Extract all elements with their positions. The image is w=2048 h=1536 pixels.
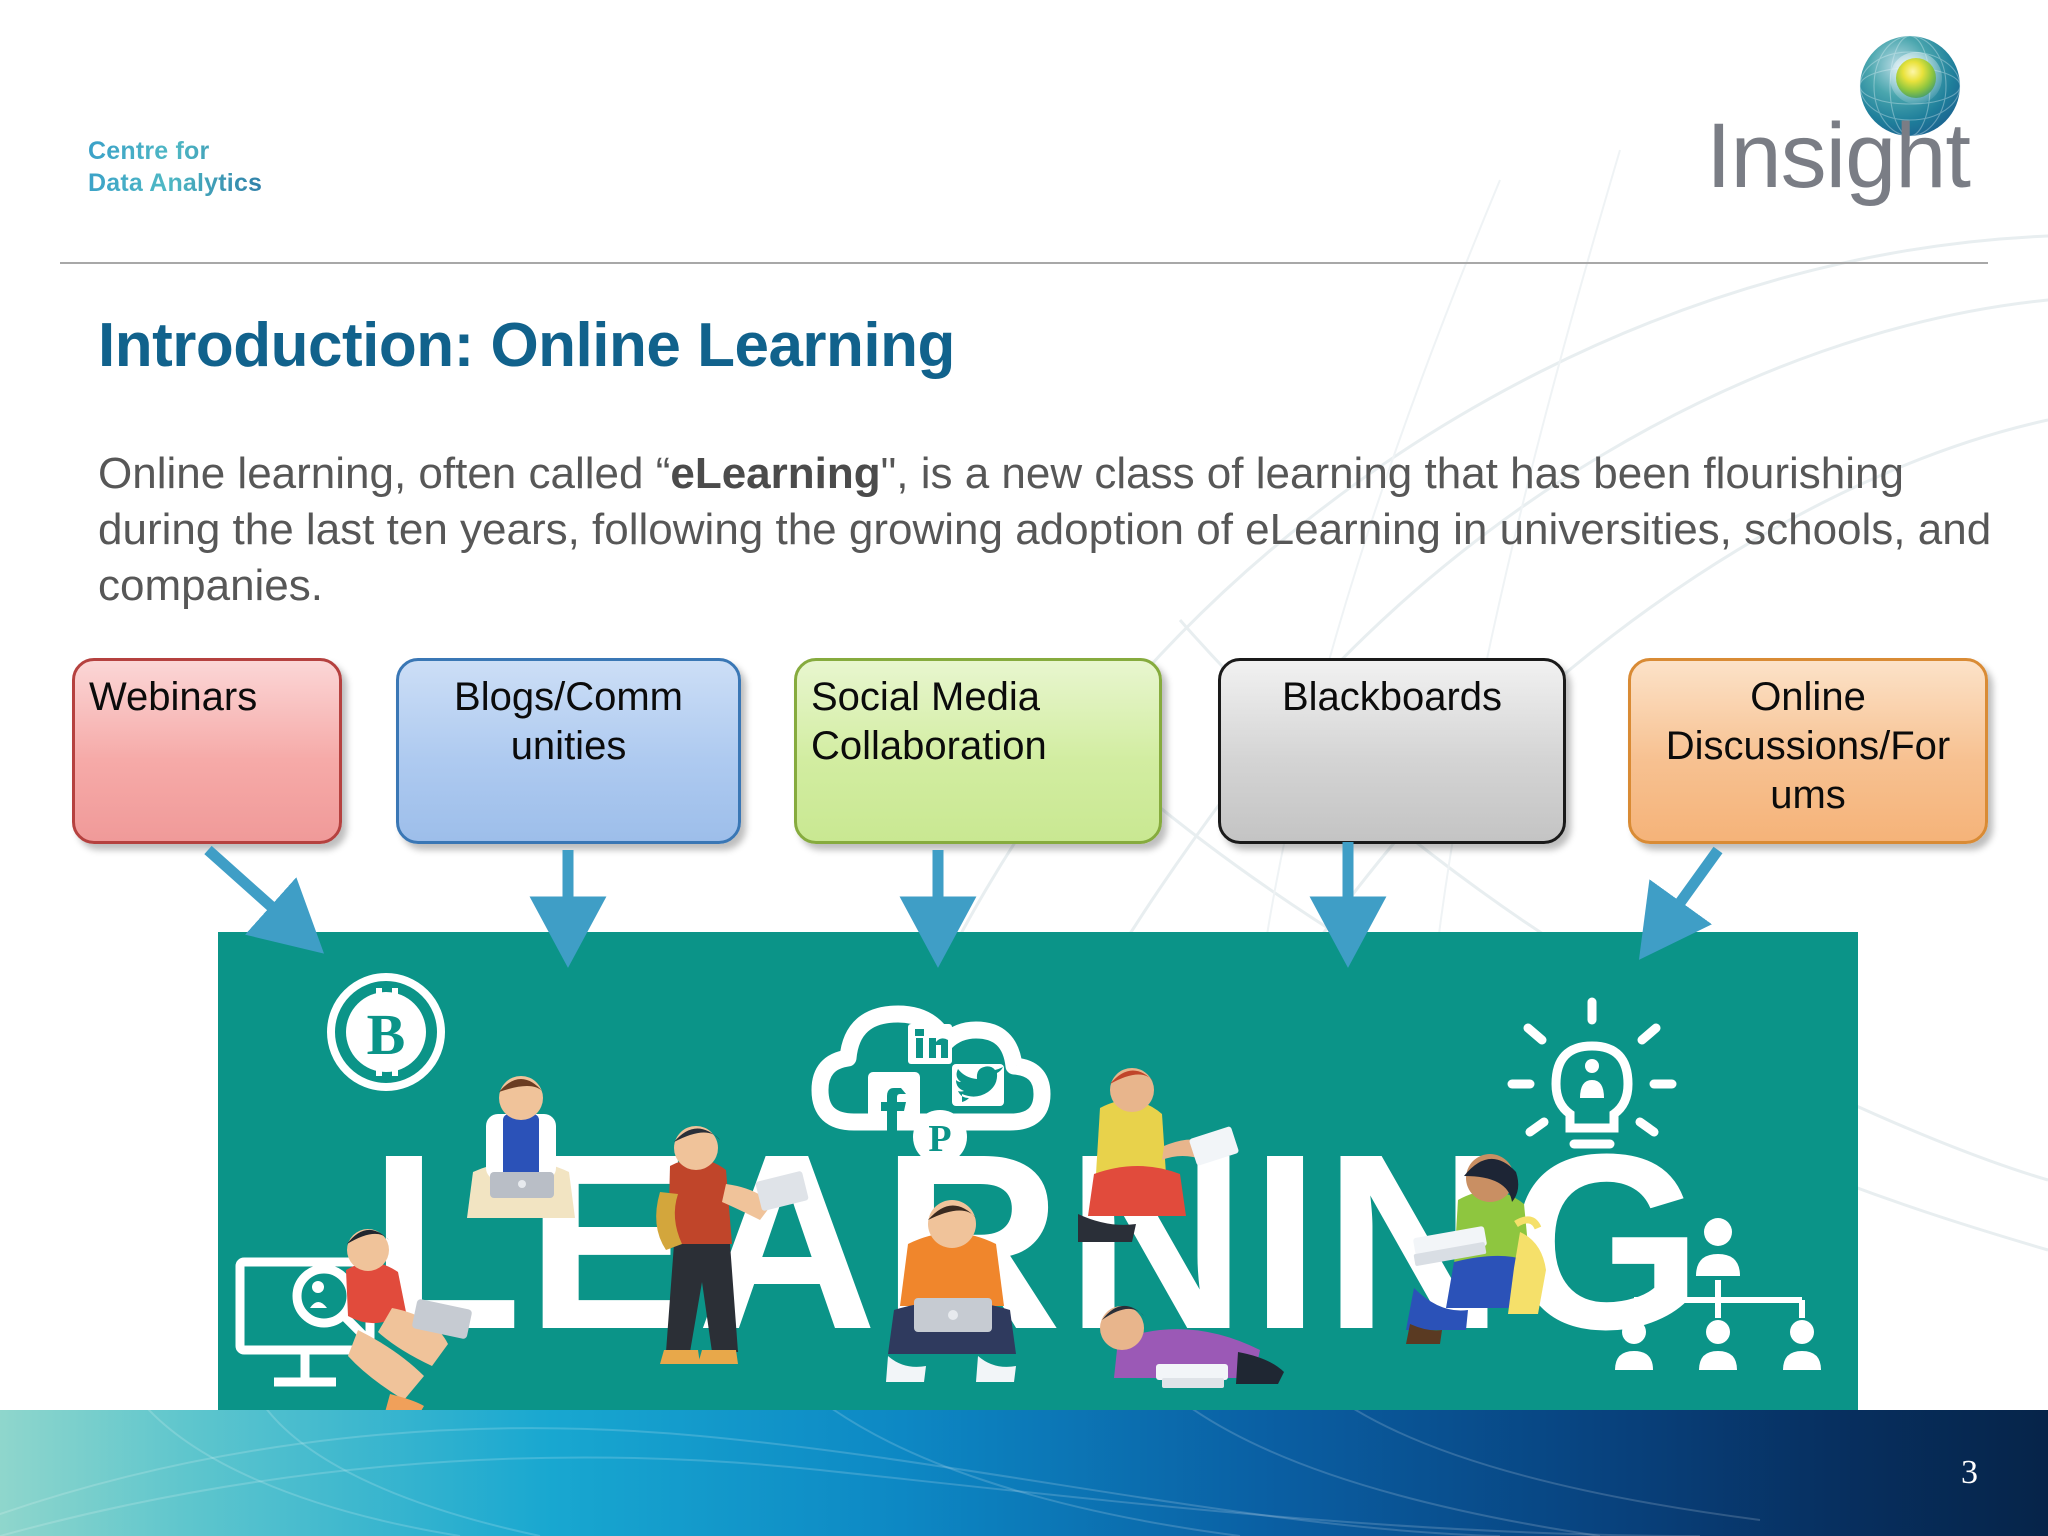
process-box-webinars[interactable]: Webinars [72,658,342,844]
insight-logo: Insight [1570,34,1970,224]
centre-for-data-analytics-logo: Centre for Data Analytics [88,135,262,199]
arrow-forums [1664,850,1718,925]
svg-text:P: P [928,1118,951,1160]
footer-bar: 3 [0,1410,2048,1536]
linkedin-icon [908,1024,952,1064]
process-box-label: Online Discussions/For ums [1645,673,1971,833]
paragraph-pre: Online learning, often called “ [98,449,670,498]
body-paragraph: Online learning, often called “eLearning… [98,446,1998,614]
process-box-online-discussions-forums[interactable]: Online Discussions/For ums [1628,658,1988,844]
header-divider [60,262,1988,264]
pinterest-icon: P [913,1110,967,1164]
twitter-icon [952,1064,1004,1106]
page-title: Introduction: Online Learning [98,310,955,381]
org-line-2: Data Analytics [88,167,262,199]
paragraph-emphasis: eLearning [670,449,880,498]
learning-illustration: LEARNING B [218,932,1858,1410]
facebook-icon [868,1072,920,1132]
bitcoin-icon: B [331,977,441,1087]
org-line-1: Centre for [88,135,262,167]
process-box-label: Social Media Collaboration [811,673,1145,833]
process-box-label: Blogs/Comm unities [413,673,724,833]
svg-text:B: B [367,1002,406,1067]
process-box-blogs-communities[interactable]: Blogs/Comm unities [396,658,741,844]
footer-arc-decoration [0,1410,2048,1536]
page-number: 3 [1961,1454,1978,1492]
process-box-label: Webinars [89,673,325,833]
process-box-social-media-collaboration[interactable]: Social Media Collaboration [794,658,1162,844]
arrow-webinars [208,850,292,925]
process-box-label: Blackboards [1235,673,1549,833]
slide-canvas: Centre for Data Analytics [0,0,2048,1536]
process-box-blackboards[interactable]: Blackboards [1218,658,1566,844]
insight-wordmark: Insight [1570,110,1970,202]
process-box-row: Webinars Blogs/Comm unities Social Media… [0,658,2048,850]
